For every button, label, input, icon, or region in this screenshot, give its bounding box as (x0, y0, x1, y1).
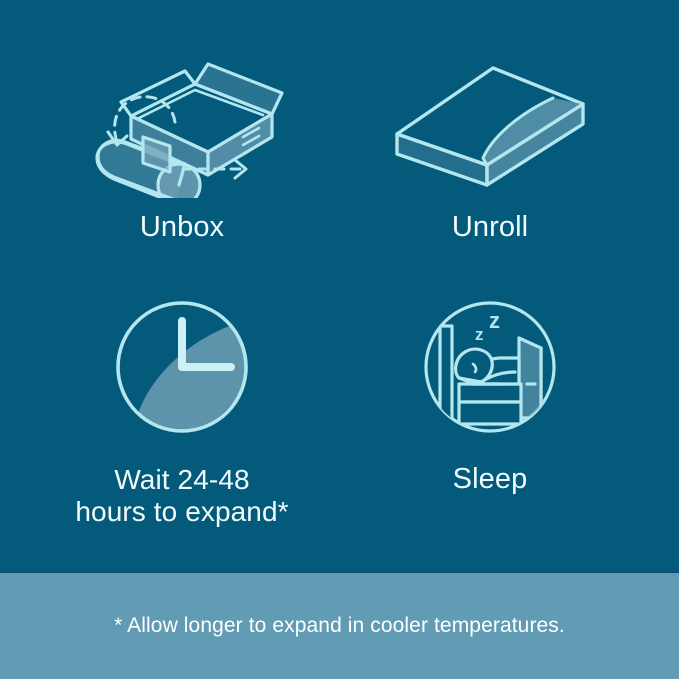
svg-text:z: z (475, 325, 484, 344)
steps-area: Unbox U (0, 0, 679, 573)
instructions-infographic: Unbox U (0, 0, 679, 679)
step-sleep: z z Sleep (330, 292, 650, 495)
clock-icon (67, 292, 297, 442)
step-unroll: Unroll (330, 38, 650, 243)
flat-mattress-icon (375, 38, 605, 198)
person-sleeping-in-bed-icon: z z (375, 292, 605, 442)
step-label-unbox: Unbox (140, 212, 224, 243)
svg-text:z: z (489, 308, 500, 333)
step-label-unroll: Unroll (452, 212, 528, 243)
footer-band: * Allow longer to expand in cooler tempe… (0, 573, 679, 679)
open-box-with-rolled-mattress-icon (67, 38, 297, 198)
step-wait: Wait 24-48 hours to expand* (22, 292, 342, 528)
footer-note: * Allow longer to expand in cooler tempe… (114, 614, 565, 638)
step-unbox: Unbox (22, 38, 342, 243)
step-label-wait: Wait 24-48 hours to expand* (75, 464, 288, 528)
step-label-sleep: Sleep (453, 464, 528, 495)
